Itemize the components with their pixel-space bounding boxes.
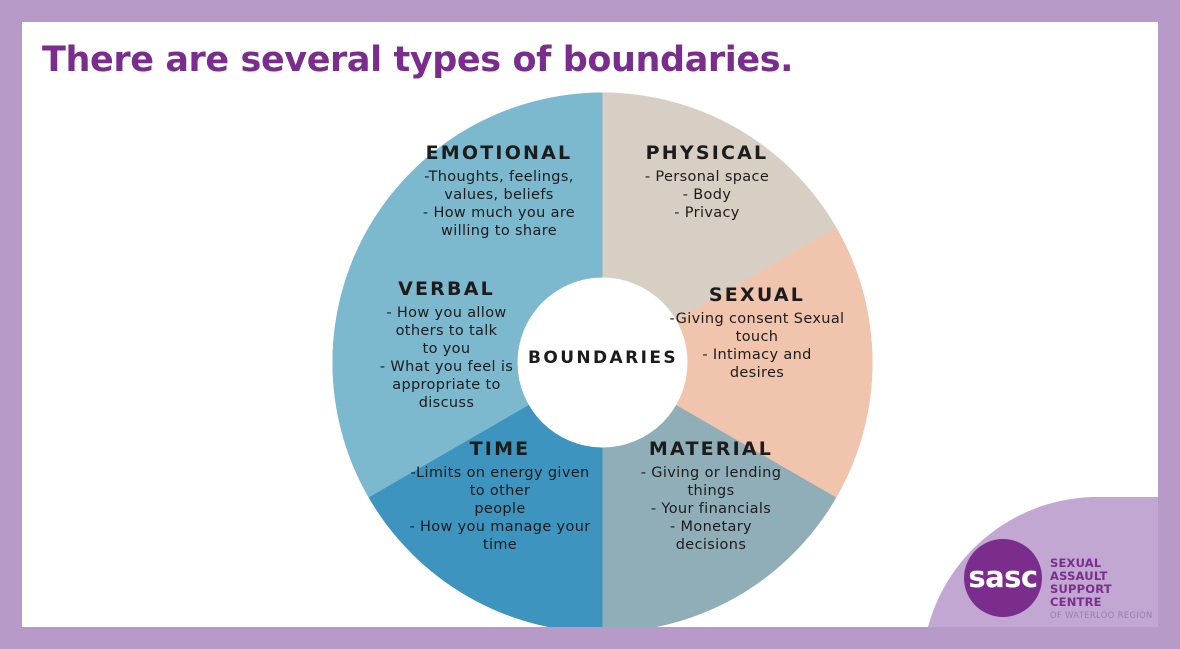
slide: There are several types of boundaries. B… — [0, 0, 1180, 649]
logo-text: SEXUAL ASSAULT SUPPORT CENTRE OF WATERLO… — [1050, 557, 1158, 620]
page-title: There are several types of boundaries. — [42, 40, 793, 80]
logo-mark: sasc — [964, 539, 1042, 617]
wheel-center-label: BOUNDARIES — [512, 348, 694, 368]
sasc-logo: sasc SEXUAL ASSAULT SUPPORT CENTRE OF WA… — [928, 497, 1158, 627]
logo-wordmark: sasc — [964, 539, 1042, 617]
logo-line-3: OF WATERLOO REGION — [1050, 610, 1158, 620]
logo-line-1: SEXUAL ASSAULT — [1050, 557, 1158, 583]
logo-line-2: SUPPORT CENTRE — [1050, 583, 1158, 609]
slide-canvas: There are several types of boundaries. B… — [22, 22, 1158, 627]
boundaries-wheel: BOUNDARIES EMOTIONAL -Thoughts, feelings… — [330, 90, 875, 627]
